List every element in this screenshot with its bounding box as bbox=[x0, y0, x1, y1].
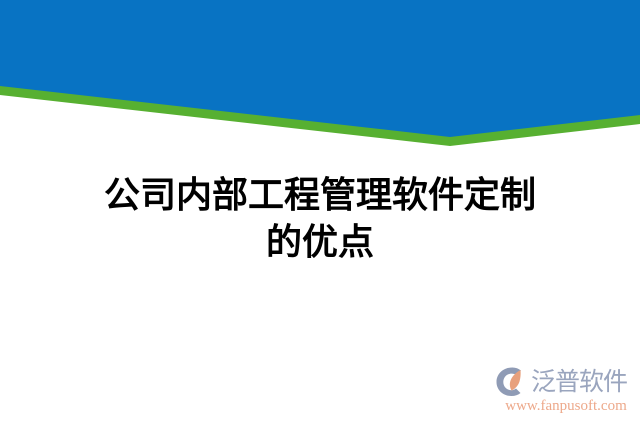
title-line-2: 的优点 bbox=[0, 219, 640, 266]
presentation-slide: 公司内部工程管理软件定制 的优点 泛普软件 www.fanpusoft.com bbox=[0, 0, 640, 427]
fanpu-circular-swoosh-icon bbox=[495, 366, 529, 397]
top-chevron-banner bbox=[0, 0, 640, 160]
brand-url: www.fanpusoft.com bbox=[497, 397, 635, 415]
brand-watermark: 泛普软件 www.fanpusoft.com bbox=[495, 361, 635, 421]
brand-wordmark: 泛普软件 bbox=[531, 366, 627, 397]
slide-title: 公司内部工程管理软件定制 的优点 bbox=[0, 172, 640, 266]
banner-blue-shape bbox=[0, 0, 640, 137]
title-line-1: 公司内部工程管理软件定制 bbox=[0, 172, 640, 219]
brand-logo-row: 泛普软件 bbox=[495, 363, 635, 399]
